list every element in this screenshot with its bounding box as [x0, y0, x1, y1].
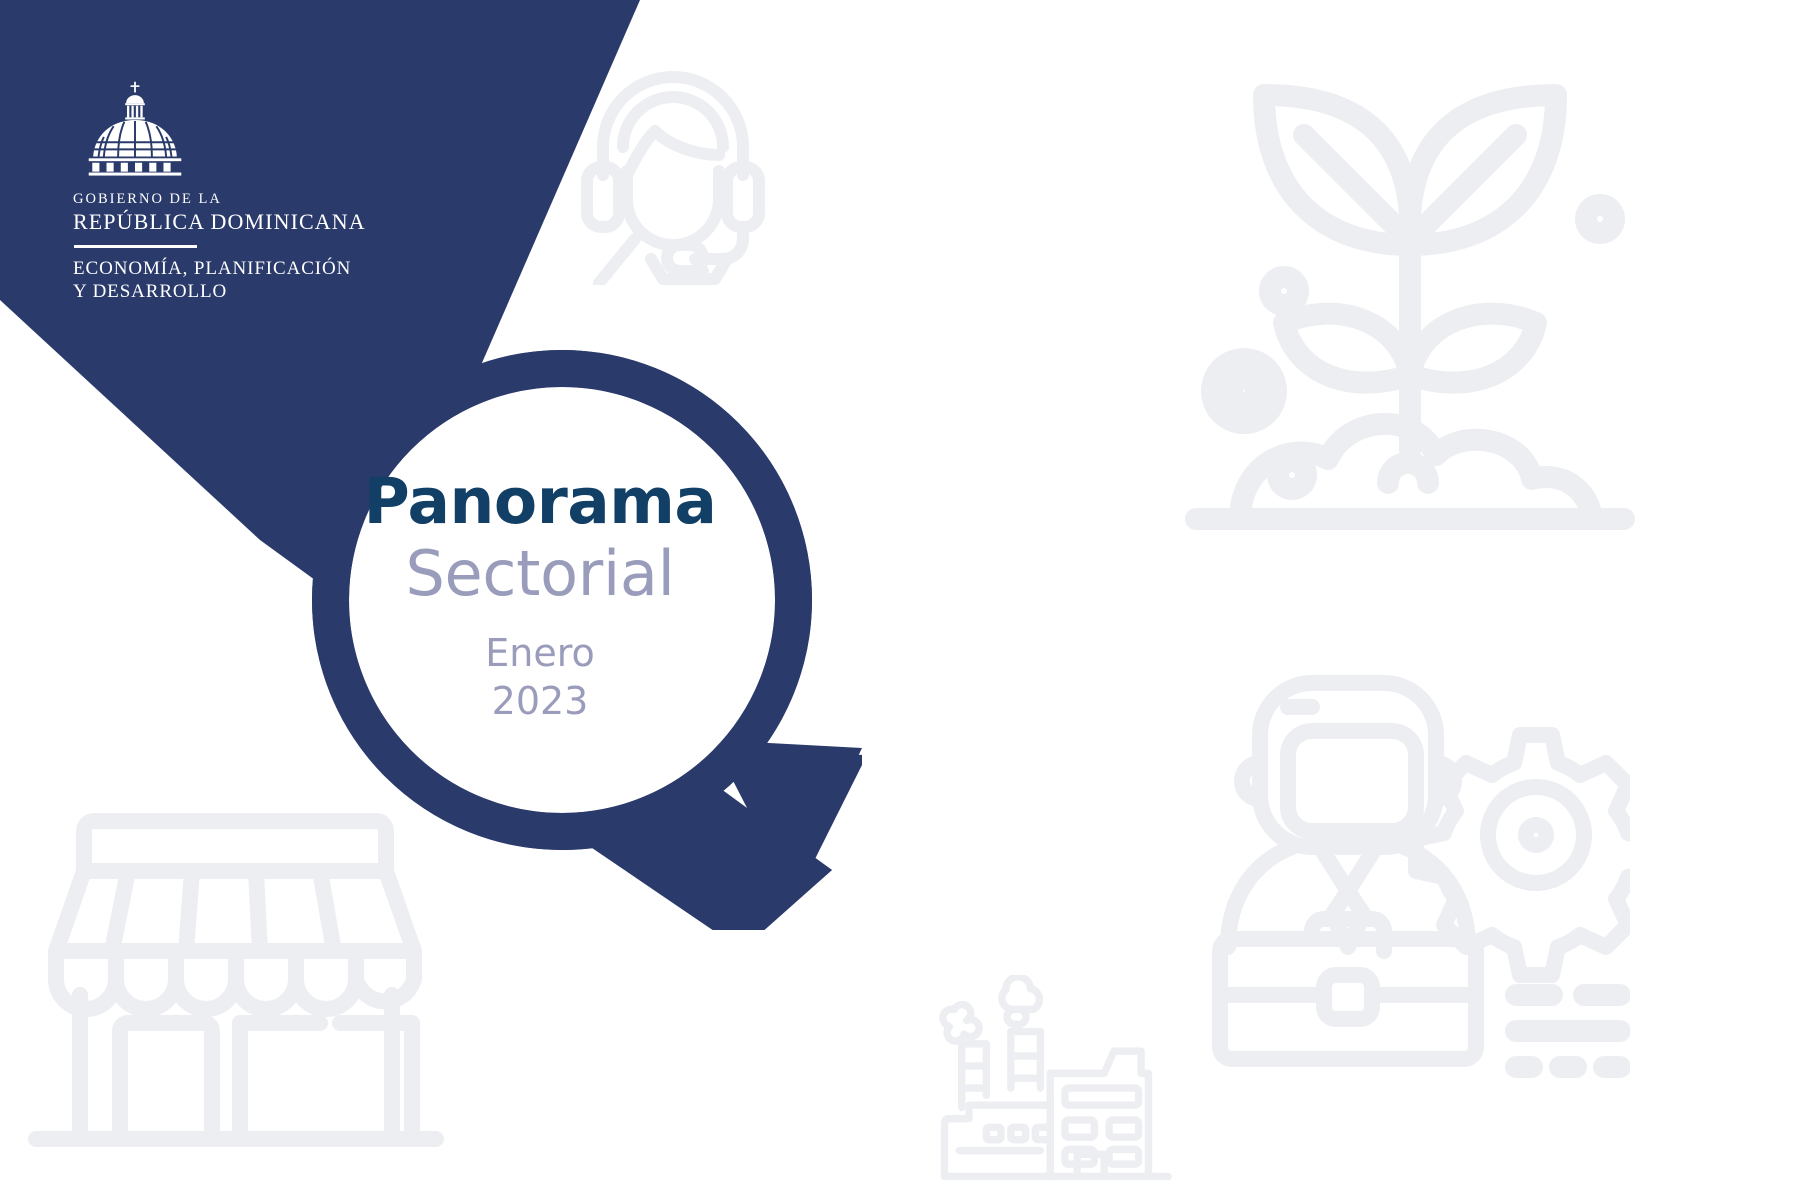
cover-title-block: Panorama Sectorial Enero 2023: [330, 470, 750, 725]
dominican-republic-dome-crest-icon: [81, 80, 189, 185]
cover-page: Panorama Sectorial Enero 2023: [0, 0, 1800, 1203]
logo-line-ministry: ECONOMÍA, PLANIFICACIÓN Y DESARROLLO: [73, 257, 353, 303]
logo-divider: [74, 245, 197, 248]
page-subtitle: Sectorial: [330, 537, 750, 610]
logo-line-republica: REPÚBLICA DOMINICANA: [73, 209, 353, 235]
logo-line-gobierno: GOBIERNO DE LA: [73, 191, 353, 208]
issue-year: 2023: [330, 678, 750, 726]
government-logo: GOBIERNO DE LA REPÚBLICA DOMINICANA ECON…: [73, 80, 353, 303]
page-title: Panorama: [330, 470, 750, 533]
issue-month: Enero: [330, 630, 750, 678]
